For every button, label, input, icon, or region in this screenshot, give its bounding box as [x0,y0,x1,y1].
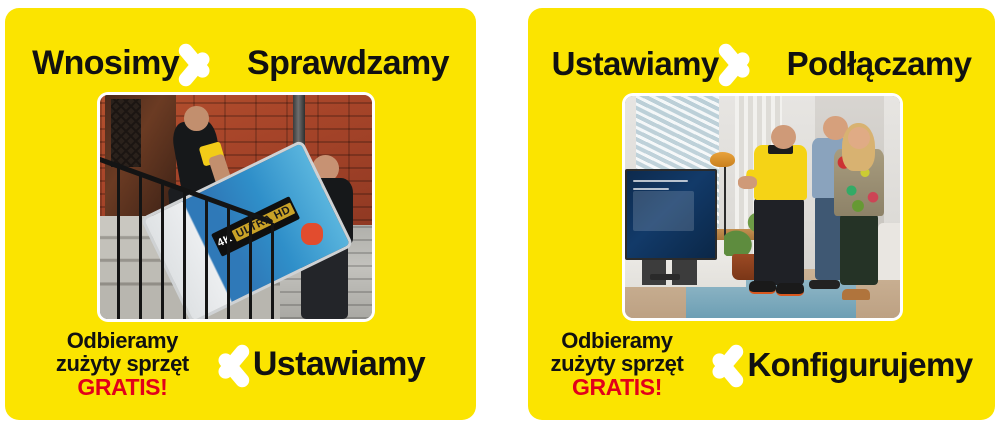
chevron-left-icon [695,333,735,395]
panel-right-top-row: Ustawiamy Podłączamy [528,34,995,92]
step-label-podlaczamy: Podłączamy [787,47,972,80]
door-grille [111,99,141,166]
customer-man-shoe [809,280,839,289]
sofa-edge [878,223,900,281]
recycle-free-badge: GRATIS! [551,375,684,399]
panel-left-top-row: Wnosimy Sprawdzamy [5,34,476,92]
recycle-line-2: zużyty sprzęt [551,351,684,376]
recycle-line-1: Odbieramy [67,328,178,353]
floor-lamp-shade [710,152,735,168]
worker-upper-head [184,106,208,131]
infographic-stage: Wnosimy Sprawdzamy Odbieramy zużyty sprz… [0,0,1000,429]
photo-technician-with-couple [625,96,900,318]
chevron-right-icon [733,32,773,94]
chevron-right-icon [193,32,233,94]
photo-workers-carrying-tv: 4K ULTRA HD [100,95,372,319]
tv-stand [650,274,680,281]
customer-woman-head [848,127,870,149]
chevron-down-icon [400,204,462,246]
photo-right-scene [625,96,900,318]
technician-trousers [754,198,804,285]
recycle-free-badge: GRATIS! [56,375,189,399]
technician-hand [738,176,757,189]
chevron-left-icon [201,333,241,395]
sideboard-cube-right [672,260,697,284]
recycle-note-right: Odbieramy zużyty sprzęt GRATIS! [551,329,684,400]
sideboard-cube-left [642,260,667,284]
chevron-down-icon [920,204,982,246]
recycle-line-1: Odbieramy [561,328,672,353]
tv-setup-text-line-2 [633,188,669,190]
panel-left-bottom-row: Odbieramy zużyty sprzęt GRATIS! Ustawiam… [5,324,476,404]
customer-woman-shoe [842,289,870,300]
recycle-note-left: Odbieramy zużyty sprzęt GRATIS! [56,329,189,400]
panel-right-bottom-row: Odbieramy zużyty sprzęt GRATIS! Konfigur… [528,324,995,404]
technician-head [771,125,796,149]
worker-lower-glove [301,223,323,245]
recycle-line-2: zużyty sprzęt [56,351,189,376]
customer-woman-trousers [840,214,879,285]
technician-shoe-left [749,281,777,294]
photo-left-scene: 4K ULTRA HD [100,95,372,319]
tv-setup-dialog [633,191,694,231]
technician-shoe-right [776,283,804,296]
step-label-konfigurujemy: Konfigurujemy [747,348,972,381]
step-label-ustawiamy-top: Ustawiamy [552,47,719,80]
step-label-wnosimy: Wnosimy [32,46,179,80]
step-label-sprawdzamy: Sprawdzamy [247,46,449,80]
step-label-ustawiamy: Ustawiamy [253,347,425,381]
